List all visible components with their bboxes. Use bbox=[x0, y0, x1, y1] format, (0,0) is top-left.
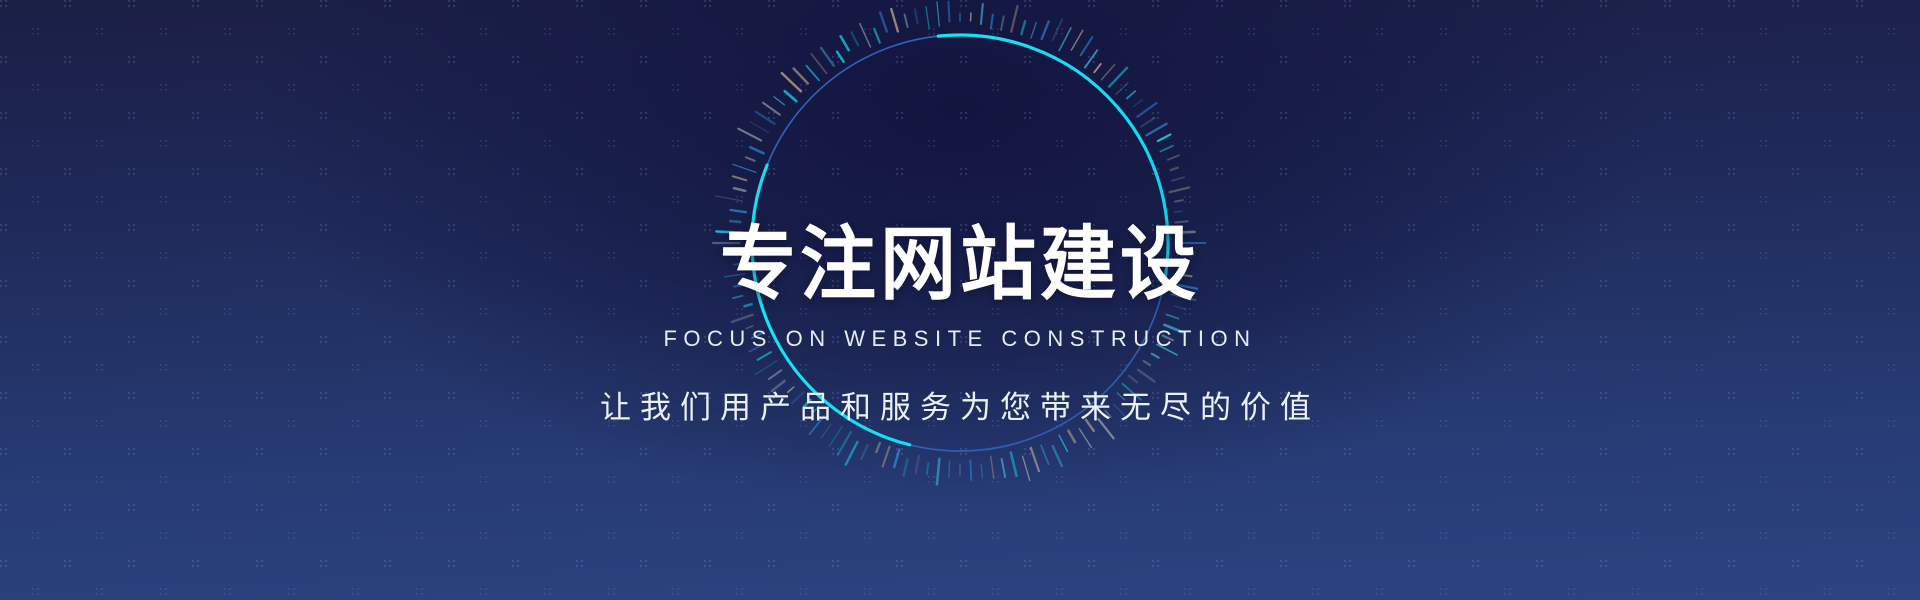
tagline-chinese: 让我们用产品和服务为您带来无尽的价值 bbox=[600, 382, 1320, 427]
banner-content: 专注网站建设 FOCUS ON WEBSITE CONSTRUCTION 让我们… bbox=[0, 0, 1920, 600]
subtitle-english: FOCUS ON WEBSITE CONSTRUCTION bbox=[663, 326, 1256, 352]
page-title: 专注网站建设 bbox=[720, 224, 1200, 305]
hero-banner: 专注网站建设 FOCUS ON WEBSITE CONSTRUCTION 让我们… bbox=[0, 0, 1920, 600]
